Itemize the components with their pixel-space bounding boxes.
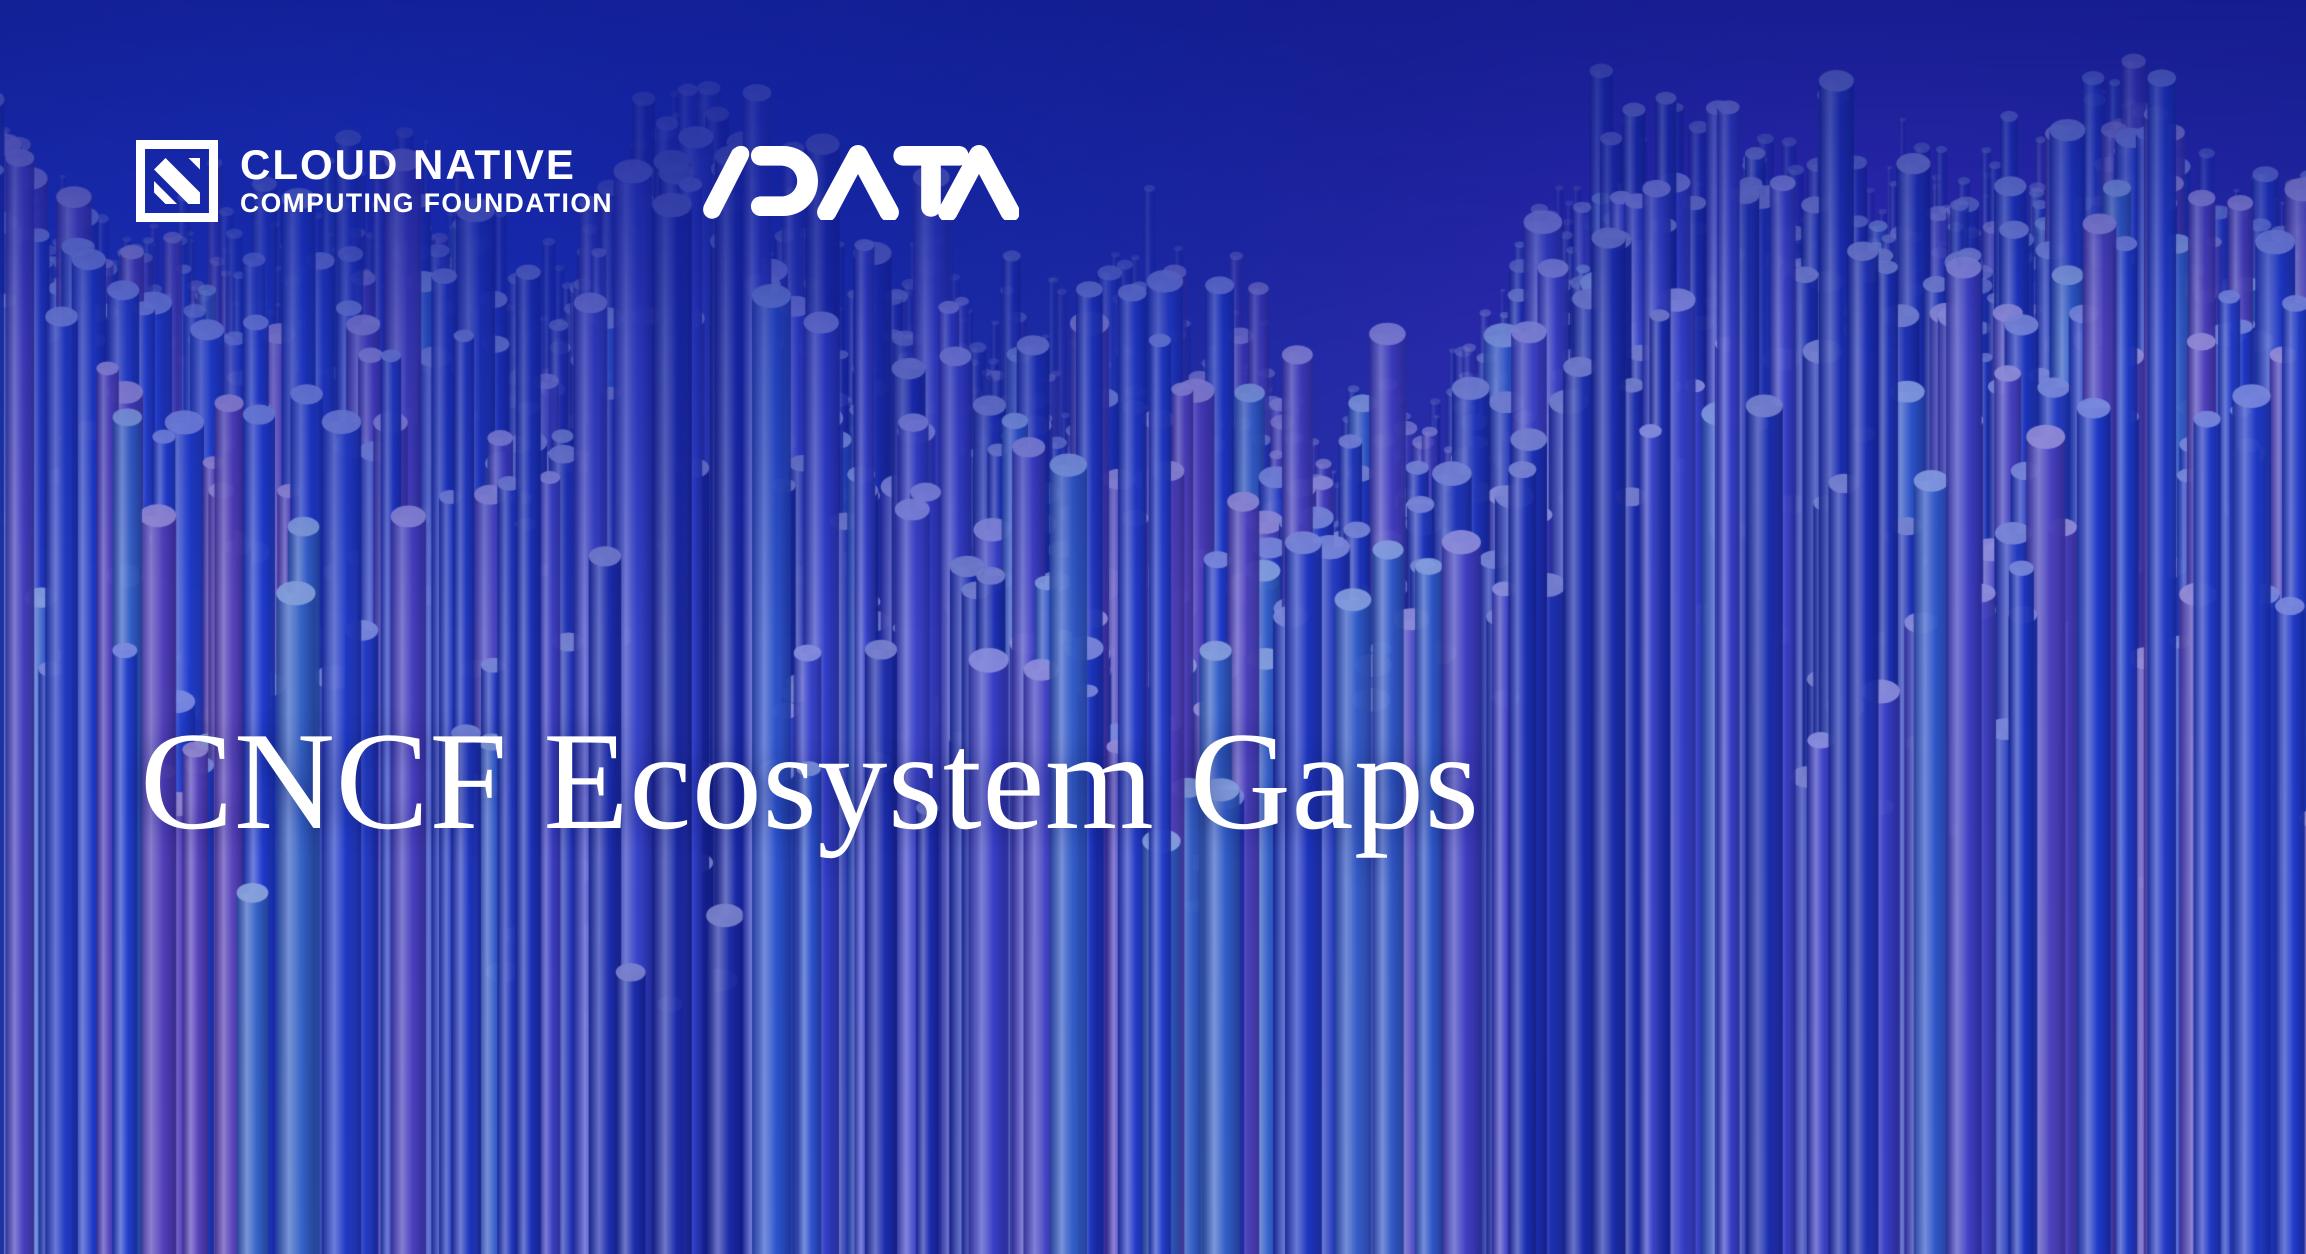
cncf-wordmark: CLOUD NATIVE COMPUTING FOUNDATION [240,143,613,219]
cncf-wordmark-line2: COMPUTING FOUNDATION [240,187,613,219]
cncf-wordmark-line1: CLOUD NATIVE [240,143,613,187]
data-wordmark [699,142,1019,220]
presentation-slide: CLOUD NATIVE COMPUTING FOUNDATION CNCF E… [0,0,2306,1254]
logo-row: CLOUD NATIVE COMPUTING FOUNDATION [136,140,1019,222]
slide-title: CNCF Ecosystem Gaps [140,704,2040,861]
cncf-logo: CLOUD NATIVE COMPUTING FOUNDATION [136,140,613,222]
cncf-logo-mark [136,140,218,222]
